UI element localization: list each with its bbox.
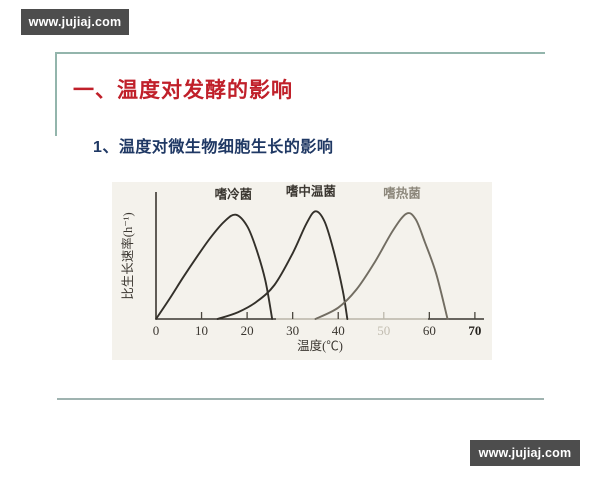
y-axis-title: 比生长速率(h⁻¹): [120, 212, 135, 299]
accent-rule-bottom: [57, 398, 544, 400]
chart-svg: 010203040506070 嗜冷菌嗜中温菌嗜热菌 温度(℃) 比生长速率(h…: [112, 182, 492, 360]
x-tick-label-0: 0: [153, 323, 160, 338]
accent-rule-left: [55, 52, 57, 136]
x-axis-title: 温度(℃): [297, 338, 343, 353]
watermark-bottom: www.jujiaj.com: [470, 440, 580, 466]
page-title: 一、温度对发酵的影响: [73, 74, 293, 104]
curve-2: [218, 211, 348, 319]
x-tick-label-50: 50: [377, 323, 390, 338]
chart-series-labels: 嗜冷菌嗜中温菌嗜热菌: [215, 183, 422, 201]
x-tick-label-70: 70: [468, 323, 481, 338]
chart-curves: [156, 211, 448, 319]
x-tick-label-10: 10: [195, 323, 208, 338]
curve-label-1: 嗜冷菌: [215, 187, 253, 202]
section-heading: 1、温度对微生物细胞生长的影响: [93, 133, 333, 157]
watermark-top: www.jujiaj.com: [21, 9, 129, 35]
x-tick-label-20: 20: [241, 323, 254, 338]
x-tick-label-40: 40: [332, 323, 345, 338]
watermark-bottom-text: www.jujiaj.com: [479, 446, 572, 460]
x-axis-tick-labels: 010203040506070: [153, 323, 482, 338]
curve-3: [315, 213, 447, 319]
curve-label-3: 嗜热菌: [383, 186, 421, 201]
x-tick-label-60: 60: [423, 323, 436, 338]
curve-label-2: 嗜中温菌: [286, 183, 337, 198]
watermark-top-text: www.jujiaj.com: [29, 15, 122, 29]
x-tick-label-30: 30: [286, 323, 299, 338]
growth-rate-chart: 010203040506070 嗜冷菌嗜中温菌嗜热菌 温度(℃) 比生长速率(h…: [112, 182, 492, 360]
accent-rule-top: [55, 52, 545, 54]
